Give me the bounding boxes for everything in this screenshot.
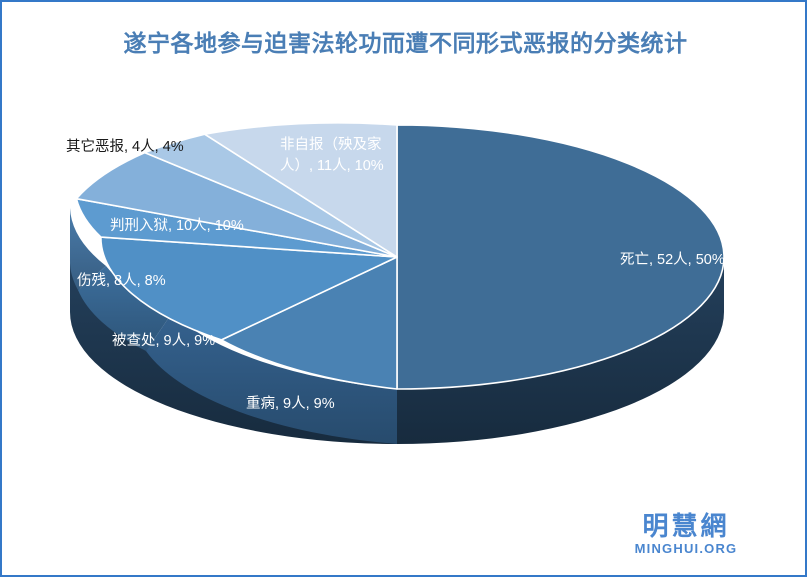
- minghui-logo-chinese: 明慧網: [611, 511, 761, 541]
- minghui-logo-english: MINGHUI.ORG: [611, 541, 761, 557]
- chart-page: 遂宁各地参与迫害法轮功而遭不同形式恶报的分类统计: [0, 0, 807, 577]
- minghui-watermark: 明慧網 MINGHUI.ORG: [611, 511, 761, 557]
- pie-chart-3d: [2, 2, 807, 577]
